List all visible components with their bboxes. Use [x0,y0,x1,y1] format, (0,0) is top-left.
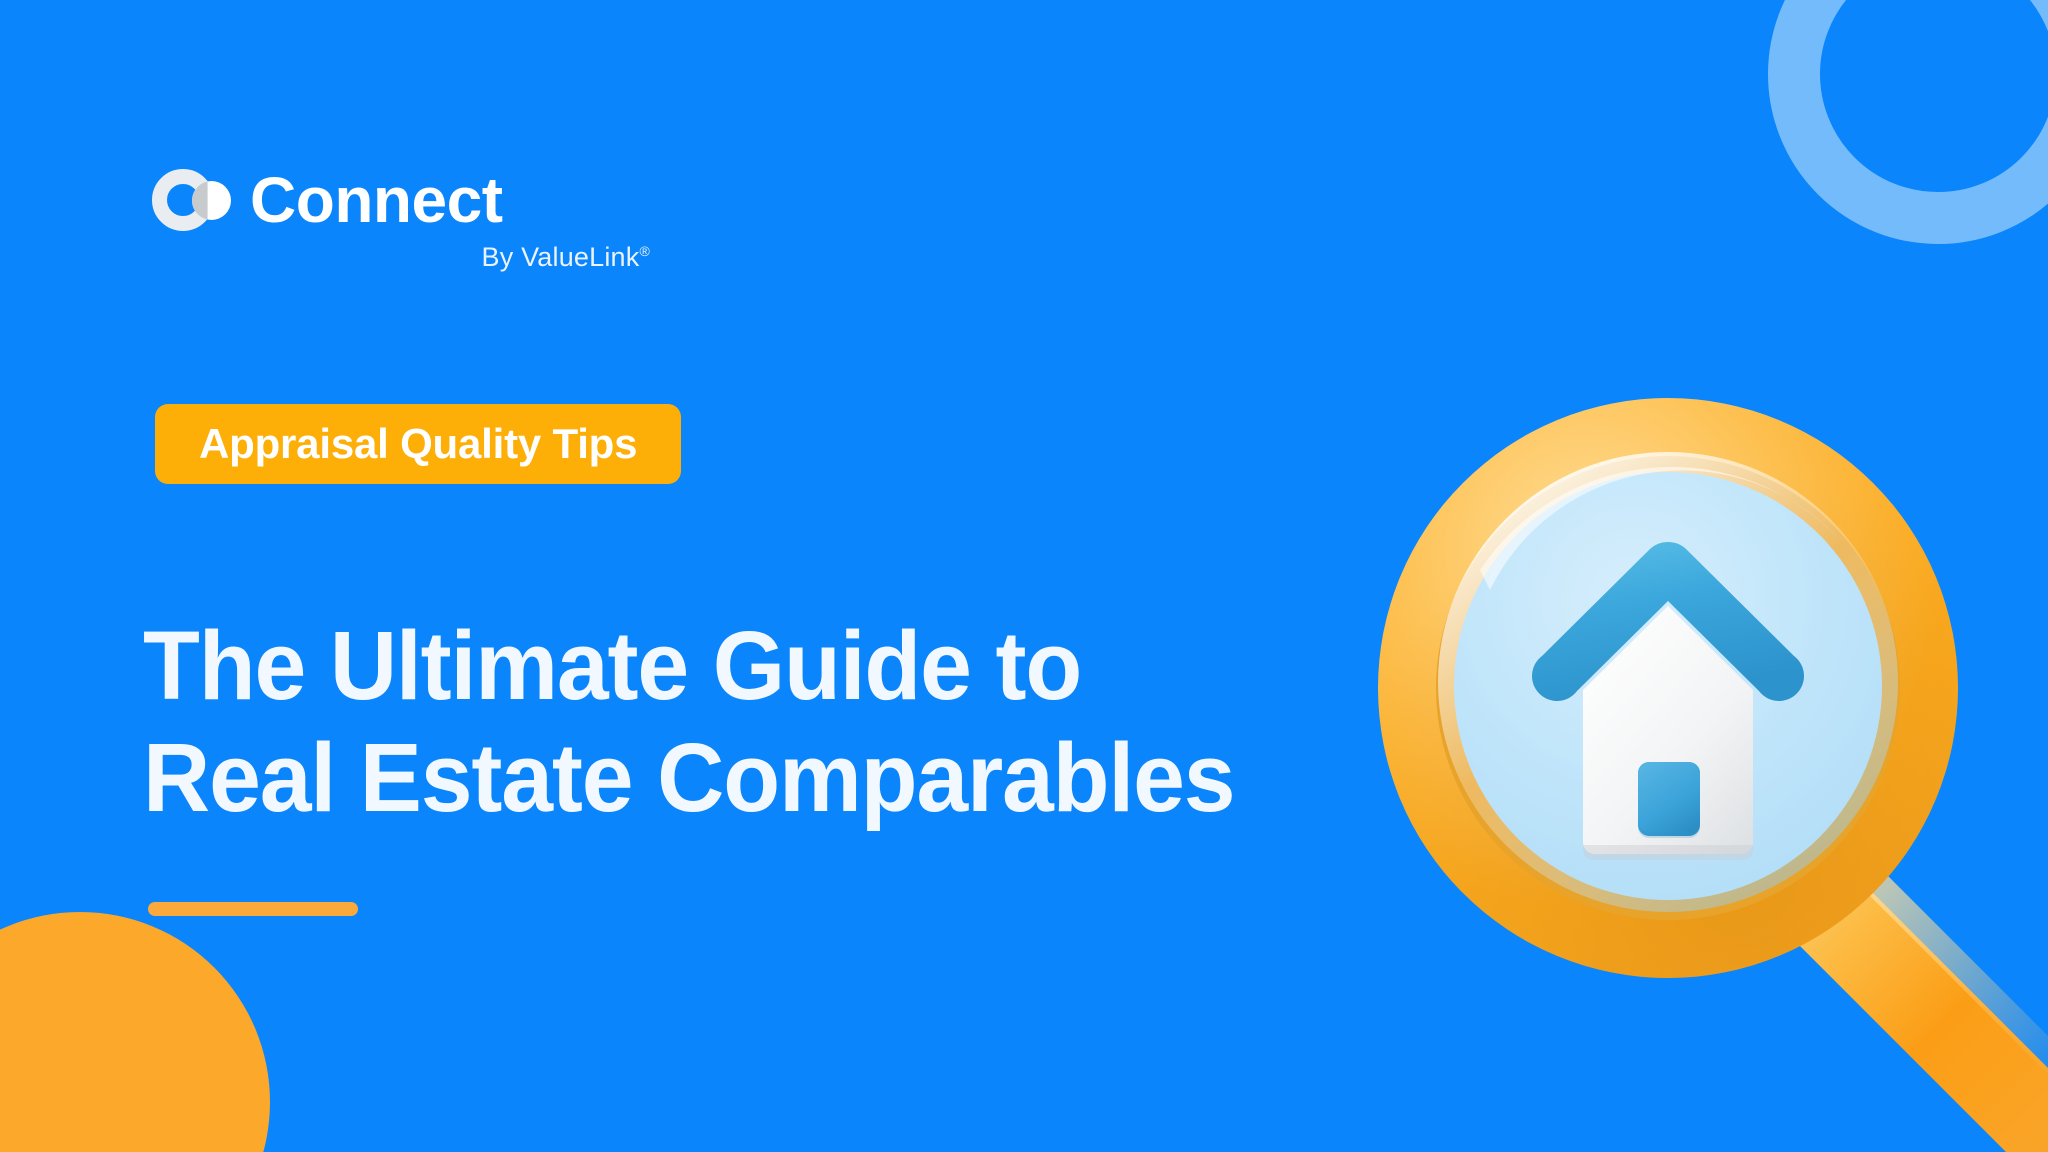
overlapping-circles-mark-icon [152,169,234,231]
magnifier-svg [1370,390,2048,1152]
brand-logo: Connect By ValueLink® [152,168,672,273]
category-badge-label: Appraisal Quality Tips [199,420,637,468]
logo-trademark-symbol: ® [639,243,650,259]
logo-wordmark: Connect [250,168,503,232]
orange-circle-icon [0,912,270,1152]
logo-tagline-text: By ValueLink [481,242,639,272]
page-title: The Ultimate Guide to Real Estate Compar… [143,610,1234,834]
logo-tagline: By ValueLink® [152,242,672,273]
slide-canvas: Connect By ValueLink® Appraisal Quality … [0,0,2048,1152]
magnifying-glass-house-illustration [1370,390,2048,1152]
page-title-line-1: The Ultimate Guide to [143,610,1234,722]
page-title-line-2: Real Estate Comparables [143,722,1234,834]
light-blue-ring-icon [1768,0,2048,244]
logo-row: Connect [152,168,672,232]
category-badge[interactable]: Appraisal Quality Tips [155,404,681,484]
accent-rule-divider [148,902,358,916]
